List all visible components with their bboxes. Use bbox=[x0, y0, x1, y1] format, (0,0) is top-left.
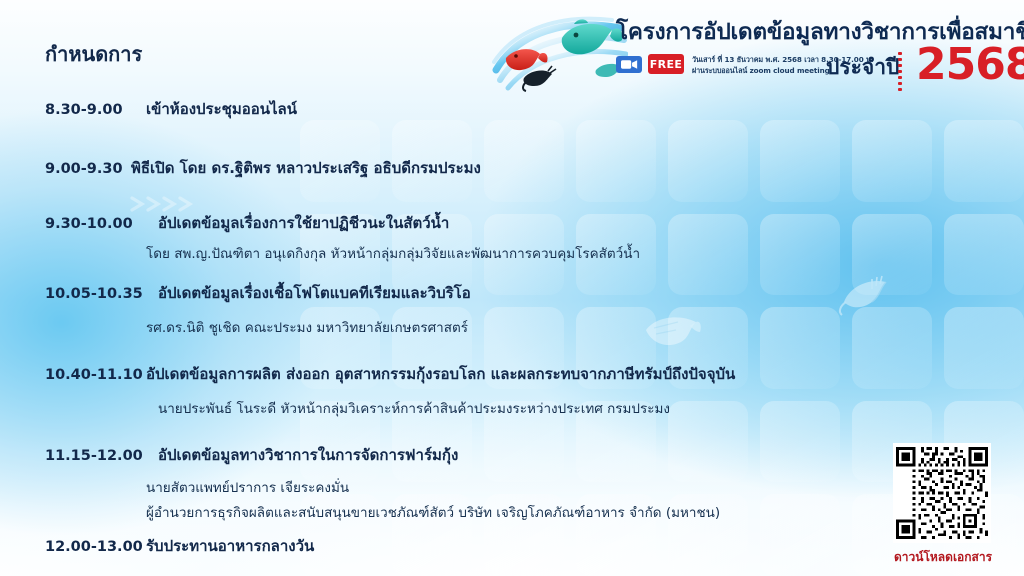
agenda-row-speaker: นายสัตวแพทย์ปราการ เจียระคงมั่น bbox=[146, 479, 349, 498]
agenda-row-time: 9.00-9.30 bbox=[45, 159, 123, 179]
qr-code-icon[interactable] bbox=[893, 443, 991, 543]
agenda-row-topic: อัปเดตข้อมูลเรื่องการใช้ยาปฏิชีวนะในสัตว… bbox=[158, 213, 449, 233]
slide-canvas: โครงการอัปเดตข้อมูลทางวิชาการเพื่อสมาชิก… bbox=[0, 0, 1024, 576]
agenda-row-topic: อัปเดตข้อมูลทางวิชาการในการจัดการฟาร์มกุ… bbox=[158, 445, 458, 465]
qr-caption: ดาวน์โหลดเอกสาร bbox=[884, 548, 1002, 567]
qr-download-block[interactable]: ดาวน์โหลดเอกสาร bbox=[884, 438, 1002, 572]
agenda-row-topic: อัปเดตข้อมูลการผลิต ส่งออก อุตสาหกรรมกุ้… bbox=[146, 364, 735, 384]
agenda-row-speaker: ผู้อำนวยการธุรกิจผลิตและสนับสนุนขายเวชภั… bbox=[146, 504, 720, 523]
agenda-row-time: 10.05-10.35 bbox=[45, 284, 143, 304]
agenda-row-time: 8.30-9.00 bbox=[45, 100, 123, 120]
agenda-row-topic: อัปเดตข้อมูลเรื่องเชื้อโฟโตแบคทีเรียมและ… bbox=[158, 283, 471, 303]
agenda-row-time: 11.15-12.00 bbox=[45, 446, 143, 466]
agenda-row-speaker: รศ.ดร.นิติ ชูเชิด คณะประมง มหาวิทยาลัยเก… bbox=[146, 319, 468, 338]
agenda-row-speaker: นายประพันธ์ โนระดี หัวหน้ากลุ่มวิเคราะห์… bbox=[158, 400, 670, 419]
agenda-list: 8.30-9.00 เข้าห้องประชุมออนไลน์ 9.00-9.3… bbox=[0, 0, 1024, 576]
agenda-row-speaker: โดย สพ.ญ.ปัณฑิตา อนุเดกิงกุล หัวหน้ากลุ่… bbox=[146, 245, 640, 264]
agenda-row-time: 9.30-10.00 bbox=[45, 214, 133, 234]
agenda-row-topic: เข้าห้องประชุมออนไลน์ bbox=[146, 99, 297, 119]
agenda-row-topic: พิธีเปิด โดย ดร.ฐิติพร หลาวประเสริฐ อธิบ… bbox=[131, 158, 481, 178]
agenda-row-time: 10.40-11.10 bbox=[45, 365, 143, 385]
agenda-row-time: 12.00-13.00 bbox=[45, 537, 143, 557]
agenda-row-topic: รับประทานอาหารกลางวัน bbox=[146, 536, 314, 556]
